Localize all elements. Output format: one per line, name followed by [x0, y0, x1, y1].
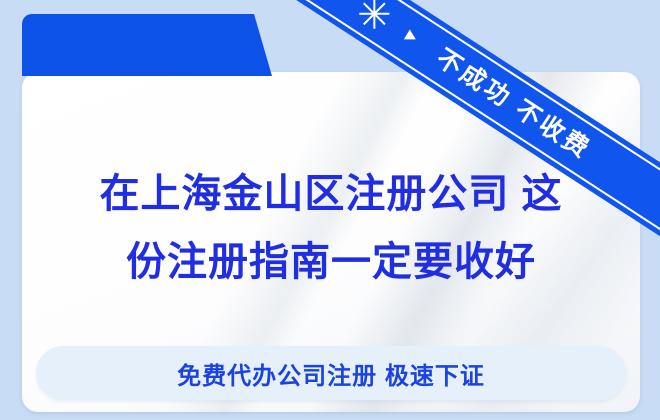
headline-line-2: 份注册指南一定要收好	[22, 228, 640, 296]
headline-line-1: 在上海金山区注册公司 这	[22, 160, 640, 228]
cta-pill[interactable]: 免费代办公司注册 极速下证	[36, 346, 626, 400]
sparkle-icon	[359, 0, 389, 29]
cta-pill-label: 免费代办公司注册 极速下证	[177, 356, 485, 391]
brand-tab	[22, 14, 272, 76]
headline-block: 在上海金山区注册公司 这 份注册指南一定要收好	[22, 160, 640, 296]
triangle-up-icon	[404, 29, 416, 39]
promo-banner: 上海壹隆 在上海金山区注册公司 这 份注册指南一定要收好 免费代办公司注册 极速…	[0, 0, 660, 420]
